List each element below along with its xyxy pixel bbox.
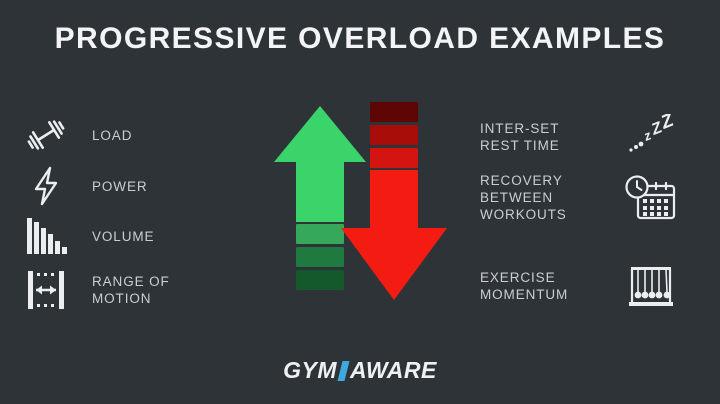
sleep-zzz-icon: z Z Z [620,114,682,160]
logo-slash-divider [338,361,350,381]
list-item-volume: VOLUME [18,212,154,260]
list-item-inter-set-rest-time: INTER-SET REST TIME z Z Z [480,114,682,160]
list-item-exercise-momentum: EXERCISE MOMENTUM [480,263,682,309]
list-item-label: EXERCISE MOMENTUM [480,269,620,303]
list-item-label: VOLUME [92,228,154,245]
red-segment-2 [370,125,418,145]
green-segment-2 [296,247,344,267]
list-item-label: INTER-SET REST TIME [480,120,620,154]
dumbbell-icon [18,111,74,159]
list-item-label: POWER [92,178,148,195]
page-title: PROGRESSIVE OVERLOAD EXAMPLES [0,22,720,56]
green-segment-1 [296,224,344,244]
center-graphic [262,98,462,318]
list-item-label: RECOVERY BETWEEN WORKOUTS [480,172,620,223]
list-item-load: LOAD [18,111,132,159]
logo-text-gym: GYM [283,357,337,384]
list-item-label: RANGE OF MOTION [92,273,170,307]
bar-chart-icon [18,212,74,260]
red-segment-3 [370,148,418,168]
red-segment-1 [370,102,418,122]
brand-logo: GYMAWARE [0,357,720,384]
green-segment-3 [296,270,344,290]
lightning-bolt-icon [18,162,74,210]
logo-text-aware: AWARE [350,357,437,384]
infographic-canvas: PROGRESSIVE OVERLOAD EXAMPLES LOAD [0,0,720,404]
ruler-measure-icon [18,266,74,314]
list-item-recovery-between-workouts: RECOVERY BETWEEN WORKOUTS [480,172,682,223]
newtons-cradle-icon [620,263,682,309]
list-item-range-of-motion: RANGE OF MOTION [18,266,170,314]
clock-calendar-icon [620,174,682,222]
list-item-label: LOAD [92,127,132,144]
list-item-power: POWER [18,162,148,210]
